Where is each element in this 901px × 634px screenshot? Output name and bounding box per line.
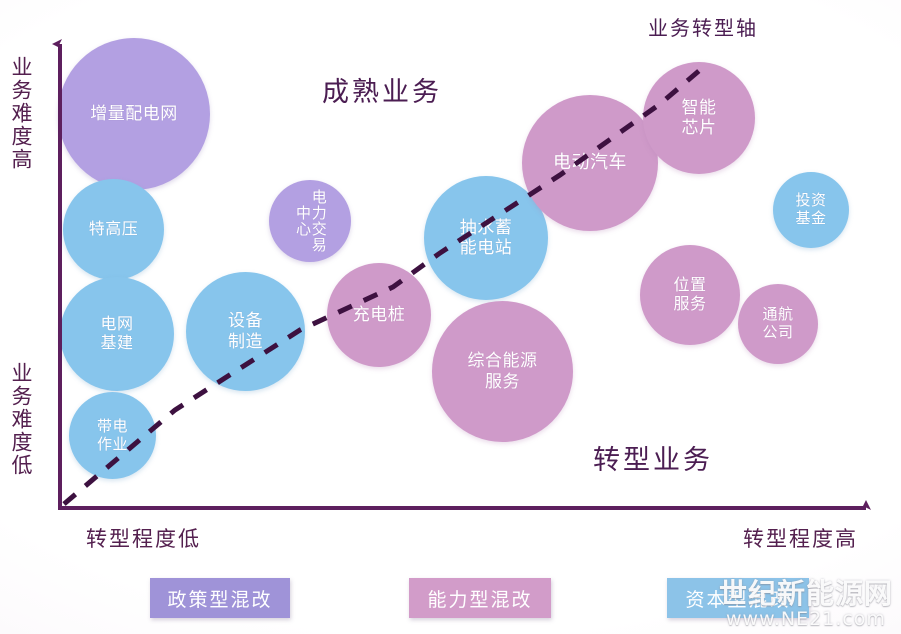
legend-label: 能力型混改 (427, 585, 532, 612)
bubble-label: 抽水蓄能电站 (453, 218, 519, 258)
bubble-label: 特高压 (85, 220, 143, 239)
bubble-zonghe-nengyuan[interactable]: 综合能源服务 (432, 301, 573, 442)
y-axis-label-high: 业务难度高 (10, 56, 31, 171)
bubble-shebei-zhizao[interactable]: 设备制造 (186, 272, 305, 391)
bubble-touzi-jijin[interactable]: 投资基金 (773, 172, 849, 248)
legend: 政策型混改 能力型混改 资本型混改 (0, 578, 901, 622)
legend-capital[interactable]: 资本型混改 (667, 578, 809, 618)
y-axis-label-low: 业务难度低 (10, 362, 31, 477)
bubble-label: 综合能源服务 (463, 351, 542, 391)
bubble-label: 智能芯片 (675, 98, 722, 138)
bubble-label: 通航公司 (757, 306, 800, 341)
bubble-diandong-qiche[interactable]: 电动汽车 (522, 95, 658, 231)
bubble-weizhi-fuwu[interactable]: 位置服务 (640, 245, 740, 345)
bubble-label: 电网基建 (95, 315, 140, 353)
legend-label: 政策型混改 (167, 585, 272, 612)
bubble-chart-canvas: 增量配电网 特高压 电网基建 设备制造 带电作业 电力交易中心 充电桩 抽水蓄能… (0, 0, 901, 634)
bubble-label: 充电桩 (349, 305, 410, 325)
bubble-label: 设备制造 (222, 311, 269, 351)
bubble-label: 增量配电网 (86, 104, 182, 124)
bubble-zengliang-peidianwang[interactable]: 增量配电网 (58, 38, 210, 190)
bubble-label: 投资基金 (790, 192, 833, 227)
bubble-label: 位置服务 (668, 276, 713, 314)
x-axis-label-low: 转型程度低 (86, 523, 201, 553)
bubble-daidian-zuoye[interactable]: 带电作业 (69, 392, 156, 479)
bubble-label: 电力交易中心 (294, 184, 326, 258)
legend-policy[interactable]: 政策型混改 (150, 578, 290, 618)
bubble-zhineng-xinpian[interactable]: 智能芯片 (643, 62, 755, 174)
legend-capability[interactable]: 能力型混改 (409, 578, 551, 618)
bubble-label: 带电作业 (91, 418, 134, 453)
bubble-dianwang-jijian[interactable]: 电网基建 (60, 277, 174, 391)
bubble-chongdianzhuang[interactable]: 充电桩 (327, 263, 431, 367)
annotation-transform-axis: 业务转型轴 (648, 12, 758, 41)
bubble-tonghang-gongsi[interactable]: 通航公司 (738, 284, 818, 364)
x-axis-label-high: 转型程度高 (743, 523, 858, 553)
bubble-tegaoya[interactable]: 特高压 (63, 179, 164, 280)
annotation-mature-business: 成熟业务 (322, 70, 442, 109)
legend-label: 资本型混改 (685, 585, 790, 612)
annotation-transform-business: 转型业务 (593, 438, 713, 477)
bubble-label: 电动汽车 (549, 152, 631, 173)
bubble-dianli-jiaoyi-zhongxin[interactable]: 电力交易中心 (269, 180, 351, 262)
